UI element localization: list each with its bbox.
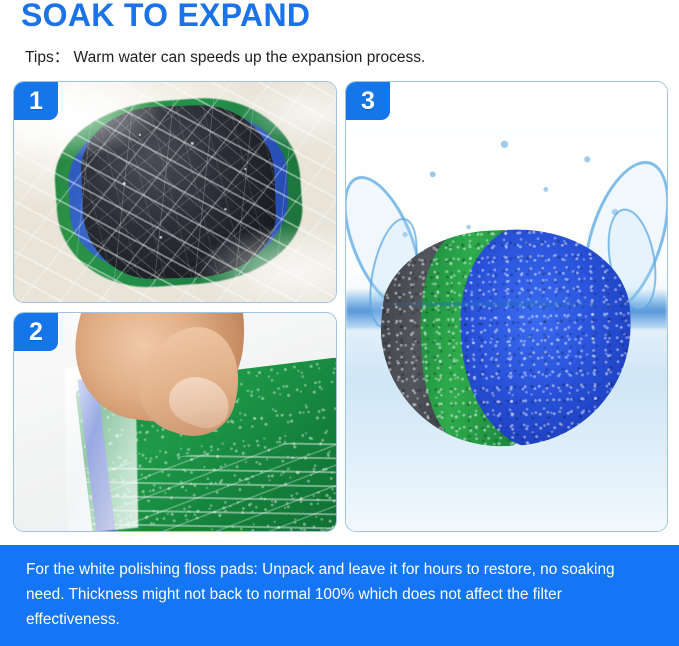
sponge-pore-texture <box>378 226 636 450</box>
water-ripple <box>365 302 648 306</box>
page-title: SOAK TO EXPAND <box>21 0 310 34</box>
step-panel-2: 2 <box>13 312 337 532</box>
bottom-note-text: For the white polishing floss pads: Unpa… <box>26 557 646 632</box>
vacuum-sealed-pad-photo <box>14 82 336 302</box>
step-badge-1: 1 <box>14 82 58 120</box>
step-panel-1: 1 <box>13 81 337 303</box>
step-panel-3: 3 <box>345 81 668 532</box>
black-carbon-layer <box>79 103 278 281</box>
step-badge-2: 2 <box>14 313 58 351</box>
soak-pad-photo <box>346 82 667 531</box>
step-badge-3: 3 <box>346 82 390 120</box>
bottom-note-banner: For the white polishing floss pads: Unpa… <box>0 545 679 646</box>
tips-line: Tips： Warm water can speeds up the expan… <box>25 45 425 67</box>
unwrap-pad-photo <box>14 313 336 531</box>
expanded-sponge-pad <box>378 226 636 450</box>
